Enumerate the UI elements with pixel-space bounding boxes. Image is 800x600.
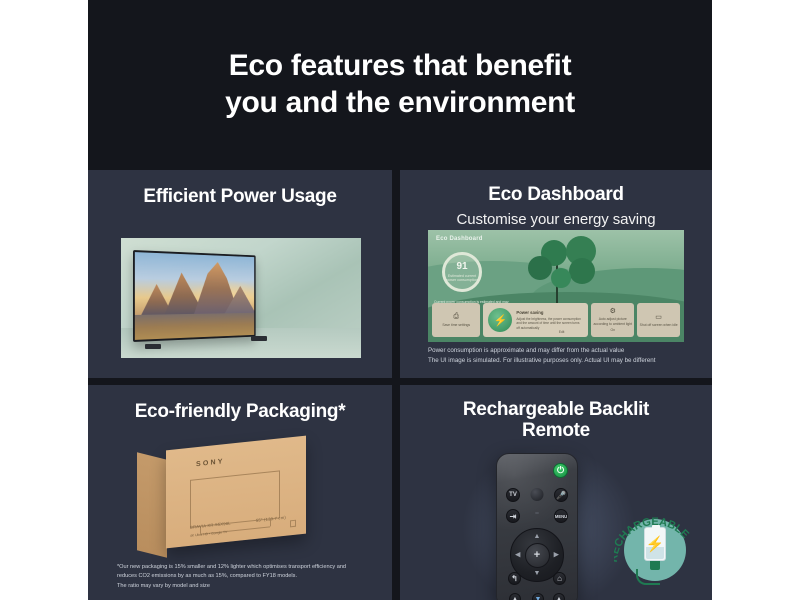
save-icon: ⎙ <box>453 313 459 321</box>
disclaimer-line-2: The UI image is simulated. For illustrat… <box>428 356 698 366</box>
dashboard-card-value: On <box>611 328 616 333</box>
packaging-footnote: *Our new packaging is 15% smaller and 12… <box>117 563 365 592</box>
battery-icon: ⚡ <box>644 527 666 561</box>
tv-stand-foot <box>251 336 267 341</box>
grid-gap-vertical <box>392 170 400 378</box>
screen-off-icon: ▭ <box>655 313 662 321</box>
tv-screen-landscape <box>135 252 254 340</box>
remote-title-line-1: Rechargeable Backlit <box>400 399 712 420</box>
dashboard-card-label: Shut off screen when idle <box>640 323 678 328</box>
dashboard-card-body: Power saving Adjust the brightness, the … <box>516 310 583 331</box>
power-cord <box>636 569 660 585</box>
panel-title-eco-dashboard: Eco Dashboard <box>400 184 712 205</box>
tree-foliage <box>528 256 552 280</box>
box-spec-secondary: 4K Ultra HD • Google TV <box>190 530 227 538</box>
volume-up-button[interactable]: ▲ <box>509 593 521 600</box>
tv-bezel <box>133 250 256 342</box>
dpad-left-icon[interactable]: ◀ <box>515 552 520 559</box>
panel-rechargeable-remote[interactable]: Rechargeable Backlit Remote ⏻ TV 🎤 ⇥ MEN… <box>400 385 712 600</box>
box-front-face: SONY BRAVIA XR-55X90L 55" (139.7 cm) 4K … <box>166 436 306 549</box>
dashboard-card-power-saving[interactable]: ⚡ Power saving Adjust the brightness, th… <box>483 303 588 337</box>
dashboard-card-link[interactable]: Edit <box>559 330 565 334</box>
tv-product-image <box>121 238 361 358</box>
panel-title-efficient-power: Efficient Power Usage <box>88 186 392 207</box>
back-button[interactable]: ↰ <box>508 572 521 585</box>
eco-dashboard-disclaimer: Power consumption is approximate and may… <box>428 346 698 366</box>
dashboard-card-label: Save time settings <box>442 323 470 328</box>
gauge-value: 91 <box>456 262 467 272</box>
footnote-line-2: reduces CO2 emissions by as much as 15%,… <box>117 572 365 582</box>
dpad-up-icon[interactable]: ▲ <box>534 533 541 540</box>
status-led <box>535 512 539 514</box>
voice-mic-button[interactable]: 🎤 <box>554 488 568 502</box>
volume-down-button[interactable]: ▲ <box>553 593 565 600</box>
gear-icon: ⚙ <box>610 307 616 315</box>
dpad-right-icon[interactable]: ▶ <box>554 552 559 559</box>
microphone-dot <box>531 488 544 501</box>
headline-line-1: Eco features that benefit <box>225 48 575 85</box>
dashboard-card-auto-brightness[interactable]: ⚙ Auto adjust picture according to ambie… <box>591 303 634 337</box>
tv-stand-foot <box>145 344 161 349</box>
dashboard-card-row: ⎙ Save time settings ⚡ Power saving Adju… <box>428 303 684 337</box>
gauge-unit: Estimated current power consumption <box>445 274 479 283</box>
headline-line-2: you and the environment <box>225 85 575 122</box>
lightning-bolt-icon: ⚡ <box>646 537 665 552</box>
dashboard-card-heading: Power saving <box>516 310 583 315</box>
dashboard-card-screen-off[interactable]: ▭ Shut off screen when idle <box>637 303 680 337</box>
grid-gap-horizontal <box>88 378 712 385</box>
power-button[interactable]: ⏻ <box>553 463 568 478</box>
feature-grid: Efficient Power Usage <box>88 170 712 600</box>
menu-button[interactable]: MENU <box>554 509 568 523</box>
eco-dashboard-ui-screenshot: Eco Dashboard 91 Estimated current power… <box>428 230 684 342</box>
input-button[interactable]: ⇥ <box>506 509 520 523</box>
remote-control: ⏻ TV 🎤 ⇥ MENU ▲ ▼ ◀ ▶ + ↰ ⌂ ▲ ▼ ▲ <box>496 453 578 600</box>
rechargeable-badge: RECHARGEABLE ⚡ <box>614 503 696 589</box>
power-consumption-gauge: 91 Estimated current power consumption <box>442 252 482 292</box>
channel-button[interactable]: ▼ <box>532 593 544 600</box>
panel-title-rechargeable-remote: Rechargeable Backlit Remote <box>400 399 712 442</box>
tv-button[interactable]: TV <box>506 488 520 502</box>
tree-foliage <box>569 258 595 284</box>
dashboard-card-save-time[interactable]: ⎙ Save time settings <box>432 303 480 337</box>
panel-eco-dashboard[interactable]: Eco Dashboard Customise your energy savi… <box>400 170 712 378</box>
dashboard-app-label: Eco Dashboard <box>436 236 483 242</box>
dpad-down-icon[interactable]: ▼ <box>534 570 541 577</box>
panel-eco-friendly-packaging[interactable]: Eco-friendly Packaging* SONY BRAVIA XR-5… <box>88 385 392 600</box>
home-button[interactable]: ⌂ <box>553 572 566 585</box>
valley-foreground <box>135 313 254 340</box>
disclaimer-line-1: Power consumption is approximate and may… <box>428 346 698 356</box>
panel-efficient-power-usage[interactable]: Efficient Power Usage <box>88 170 392 378</box>
dpad-select-button[interactable]: + <box>525 543 550 568</box>
dashboard-card-label: Auto adjust picture according to ambient… <box>591 317 634 327</box>
tree-foliage <box>551 268 571 288</box>
promo-stage: Eco features that benefit you and the en… <box>88 0 712 600</box>
box-side-face <box>137 452 167 557</box>
packaging-box-image: SONY BRAVIA XR-55X90L 55" (139.7 cm) 4K … <box>88 433 392 553</box>
panel-subtitle-eco-dashboard: Customise your energy saving <box>400 211 712 228</box>
grid-gap-vertical <box>392 385 400 600</box>
dashboard-card-description: Adjust the brightness, the power consump… <box>516 317 583 331</box>
panel-title-eco-packaging: Eco-friendly Packaging* <box>88 401 392 422</box>
recycle-mark-icon <box>290 520 296 528</box>
footnote-line-3: The ratio may vary by model and size <box>117 582 365 592</box>
header-banner: Eco features that benefit you and the en… <box>88 0 712 170</box>
eco-hands-icon: ⚡ <box>488 308 512 332</box>
remote-title-line-2: Remote <box>400 420 712 441</box>
box-brand-label: SONY <box>196 458 225 468</box>
footnote-line-1: *Our new packaging is 15% smaller and 12… <box>117 563 365 573</box>
page-title: Eco features that benefit you and the en… <box>225 48 575 121</box>
